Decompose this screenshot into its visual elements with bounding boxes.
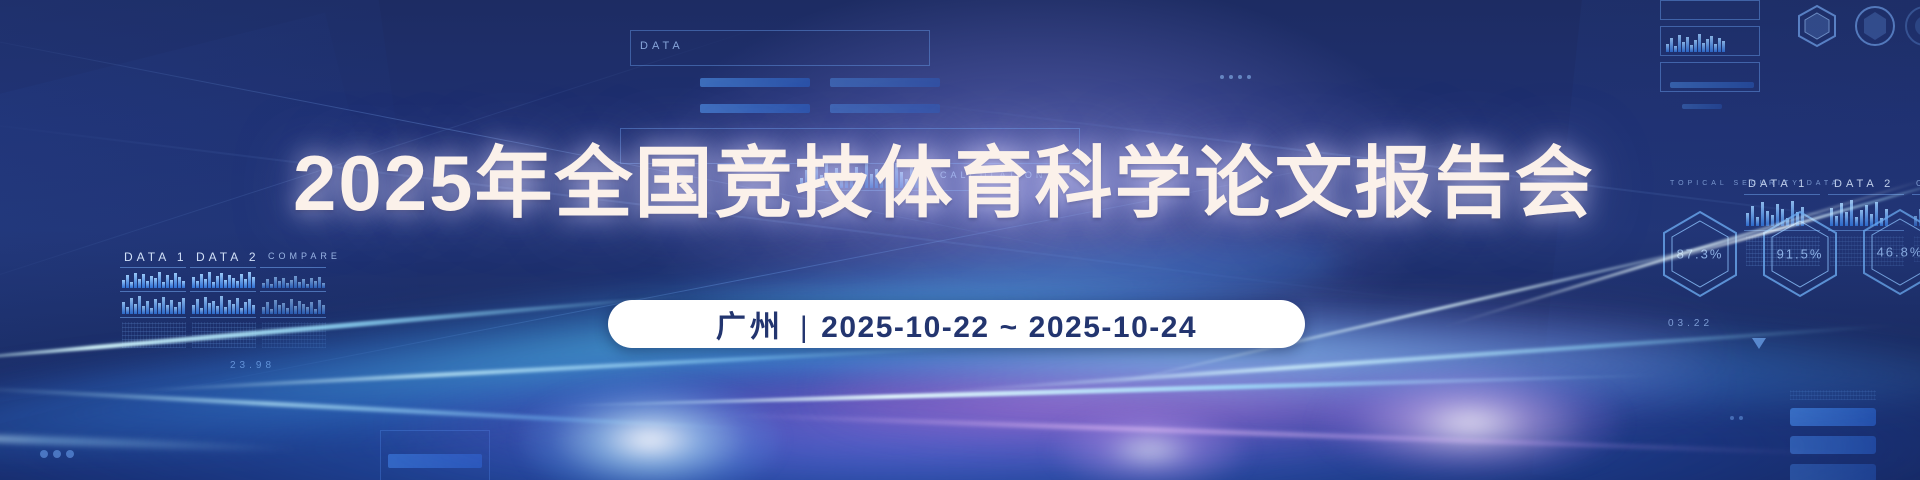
event-date-start: 2025-10-22 <box>821 311 989 344</box>
hud-right-top-stack <box>1660 0 1780 130</box>
badge-separator: | <box>800 311 809 344</box>
event-city: 广州 <box>716 311 784 344</box>
hexagon-badge-icon <box>1795 4 1839 48</box>
badge-text: 广州|2025-10-22~2025-10-24 <box>716 302 1197 346</box>
hexagon-nut-icon <box>1855 4 1895 48</box>
event-location-date-badge: 广州|2025-10-22~2025-10-24 <box>608 300 1305 348</box>
light-wave-hotspot <box>1050 410 1250 480</box>
event-date-range-symbol: ~ <box>1000 311 1019 344</box>
event-banner: DATA CALCULATION AN <box>0 0 1920 480</box>
hud-left-top-label: DATA <box>640 40 684 52</box>
page-title: 2025年全国竞技体育科学论文报告会 <box>293 140 1393 226</box>
event-date-end: 2025-10-24 <box>1029 311 1197 344</box>
light-wave-hotspot <box>1320 368 1620 478</box>
hud-dots <box>1220 75 1251 79</box>
